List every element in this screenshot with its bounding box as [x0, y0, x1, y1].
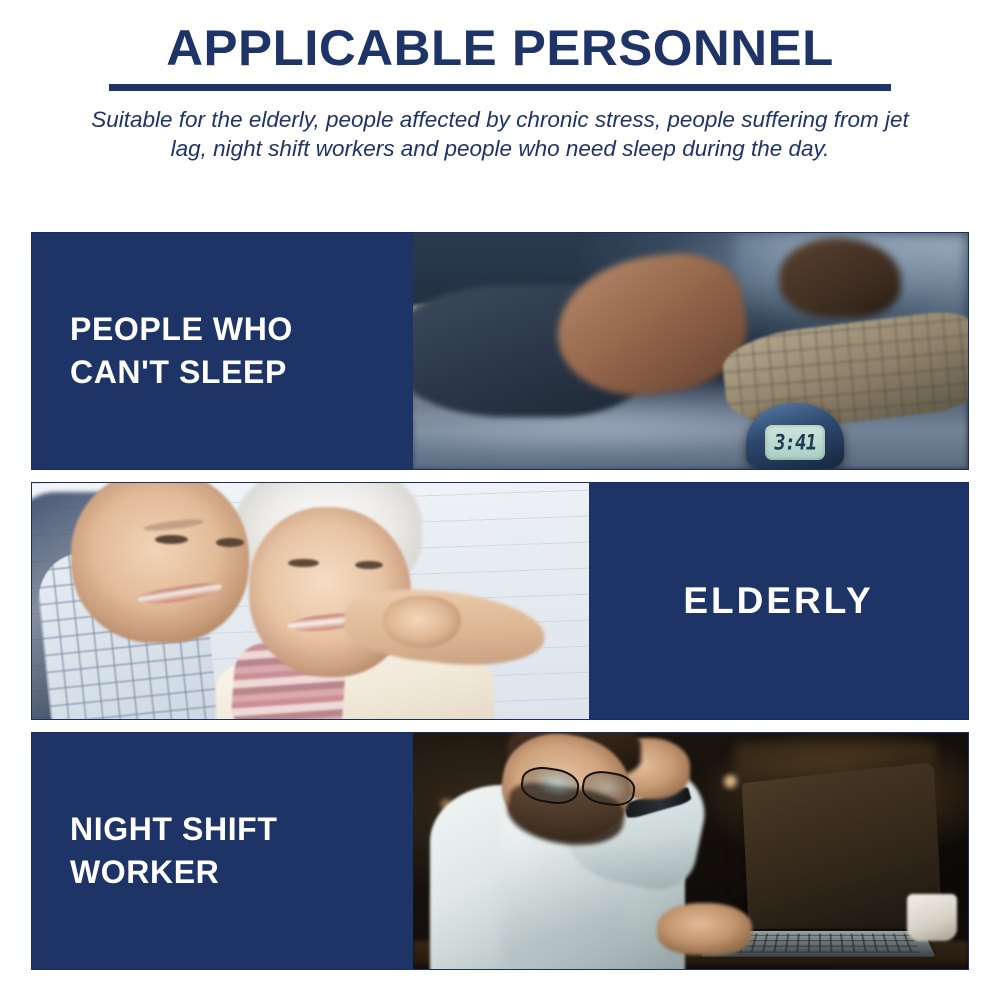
man-eye-right: [216, 538, 244, 546]
panel-label-block-night: NIGHT SHIFT WORKER: [32, 733, 413, 969]
panel-elderly: ELDERLY: [31, 482, 969, 720]
header-section: APPLICABLE PERSONNEL Suitable for the el…: [0, 0, 1000, 164]
panel-label-sleep: PEOPLE WHO CAN'T SLEEP: [32, 308, 413, 394]
man-face: [71, 483, 249, 643]
panel-label-block-sleep: PEOPLE WHO CAN'T SLEEP: [32, 233, 413, 469]
panel-people-who-cant-sleep: PEOPLE WHO CAN'T SLEEP 3:41: [31, 232, 969, 470]
photo-elderly-couple: [32, 483, 589, 719]
photo-night-shift-office: [413, 733, 968, 969]
applicable-personnel-infographic: APPLICABLE PERSONNEL Suitable for the el…: [0, 0, 1000, 1000]
panel-label-block-elderly: ELDERLY: [589, 483, 968, 719]
page-subtitle: Suitable for the elderly, people affecte…: [85, 105, 915, 164]
woman-eye-left: [288, 559, 319, 567]
panel-label-night-shift: NIGHT SHIFT WORKER: [32, 808, 413, 894]
panel-label-elderly: ELDERLY: [589, 576, 968, 626]
coffee-mug: [907, 894, 957, 941]
alarm-clock-time: 3:41: [773, 430, 818, 455]
photo-insomnia-bedroom: 3:41: [413, 233, 968, 469]
alarm-clock: 3:41: [746, 403, 844, 469]
alarm-clock-display: 3:41: [765, 425, 826, 459]
woman-hand-on-shoulder: [383, 596, 461, 648]
title-underline-rule: [109, 84, 891, 91]
panel-night-shift-worker: NIGHT SHIFT WORKER: [31, 732, 969, 970]
page-title: APPLICABLE PERSONNEL: [0, 22, 1000, 75]
woman-eye-right: [355, 561, 383, 569]
worker-typing-hand: [657, 903, 751, 955]
